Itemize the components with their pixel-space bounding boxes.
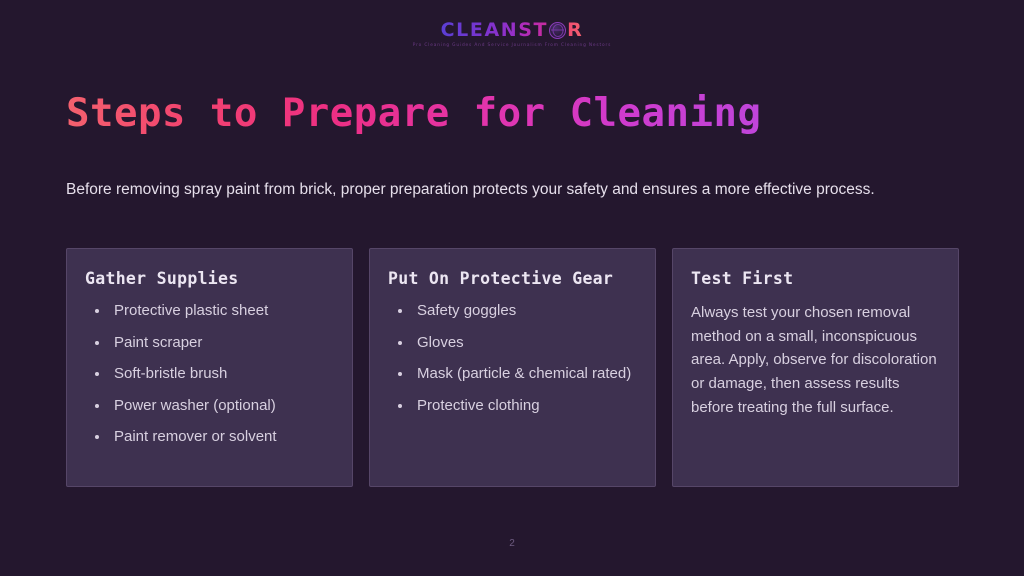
page-title: Steps to Prepare for Cleaning — [66, 92, 761, 137]
brand-logo[interactable]: CLEANSTR — [441, 21, 584, 40]
steps-card-row: Gather Supplies Protective plastic sheet… — [66, 248, 960, 487]
brand-name-st: ST — [518, 21, 548, 40]
list-item-label: Mask (particle & chemical rated) — [417, 365, 631, 382]
list-item: Mask (particle & chemical rated) — [388, 364, 637, 385]
bullet-icon — [95, 309, 99, 313]
page-subtitle: Before removing spray paint from brick, … — [66, 176, 918, 205]
list-item-label: Paint remover or solvent — [114, 428, 277, 445]
card-body-text: Always test your chosen removal method o… — [691, 301, 940, 419]
list-item-label: Protective clothing — [417, 397, 540, 414]
bullet-icon — [398, 341, 402, 345]
step-card-gather-supplies: Gather Supplies Protective plastic sheet… — [66, 248, 353, 487]
bullet-icon — [398, 404, 402, 408]
list-item-label: Protective plastic sheet — [114, 302, 268, 319]
list-item: Soft-bristle brush — [85, 364, 334, 385]
bullet-icon — [95, 404, 99, 408]
globe-icon — [549, 22, 566, 39]
list-item: Protective plastic sheet — [85, 301, 334, 322]
list-item: Safety goggles — [388, 301, 637, 322]
list-item: Power washer (optional) — [85, 396, 334, 417]
brand-tagline: Pro Cleaning Guides And Service Journali… — [413, 43, 612, 48]
list-item-label: Safety goggles — [417, 302, 516, 319]
list-item: Protective clothing — [388, 396, 637, 417]
bullet-icon — [398, 309, 402, 313]
list-item-label: Soft-bristle brush — [114, 365, 227, 382]
list-item-label: Gloves — [417, 334, 464, 351]
list-item: Gloves — [388, 333, 637, 354]
card-title: Test First — [691, 269, 940, 288]
bullet-icon — [95, 372, 99, 376]
bullet-icon — [95, 341, 99, 345]
bullet-icon — [398, 372, 402, 376]
page-number: 2 — [0, 538, 1024, 549]
bullet-icon — [95, 435, 99, 439]
brand-name-r: R — [567, 21, 583, 40]
list-item-label: Paint scraper — [114, 334, 202, 351]
card-title: Gather Supplies — [85, 269, 334, 288]
list-item: Paint remover or solvent — [85, 427, 334, 448]
card-list: Safety goggles Gloves Mask (particle & c… — [388, 301, 637, 416]
brand-header: CLEANSTR Pro Cleaning Guides And Service… — [0, 0, 1024, 58]
card-list: Protective plastic sheet Paint scraper S… — [85, 301, 334, 448]
brand-name-clean: CLEAN — [441, 21, 519, 40]
step-card-test-first: Test First Always test your chosen remov… — [672, 248, 959, 487]
list-item-label: Power washer (optional) — [114, 397, 276, 414]
card-title: Put On Protective Gear — [388, 269, 637, 288]
step-card-protective-gear: Put On Protective Gear Safety goggles Gl… — [369, 248, 656, 487]
list-item: Paint scraper — [85, 333, 334, 354]
